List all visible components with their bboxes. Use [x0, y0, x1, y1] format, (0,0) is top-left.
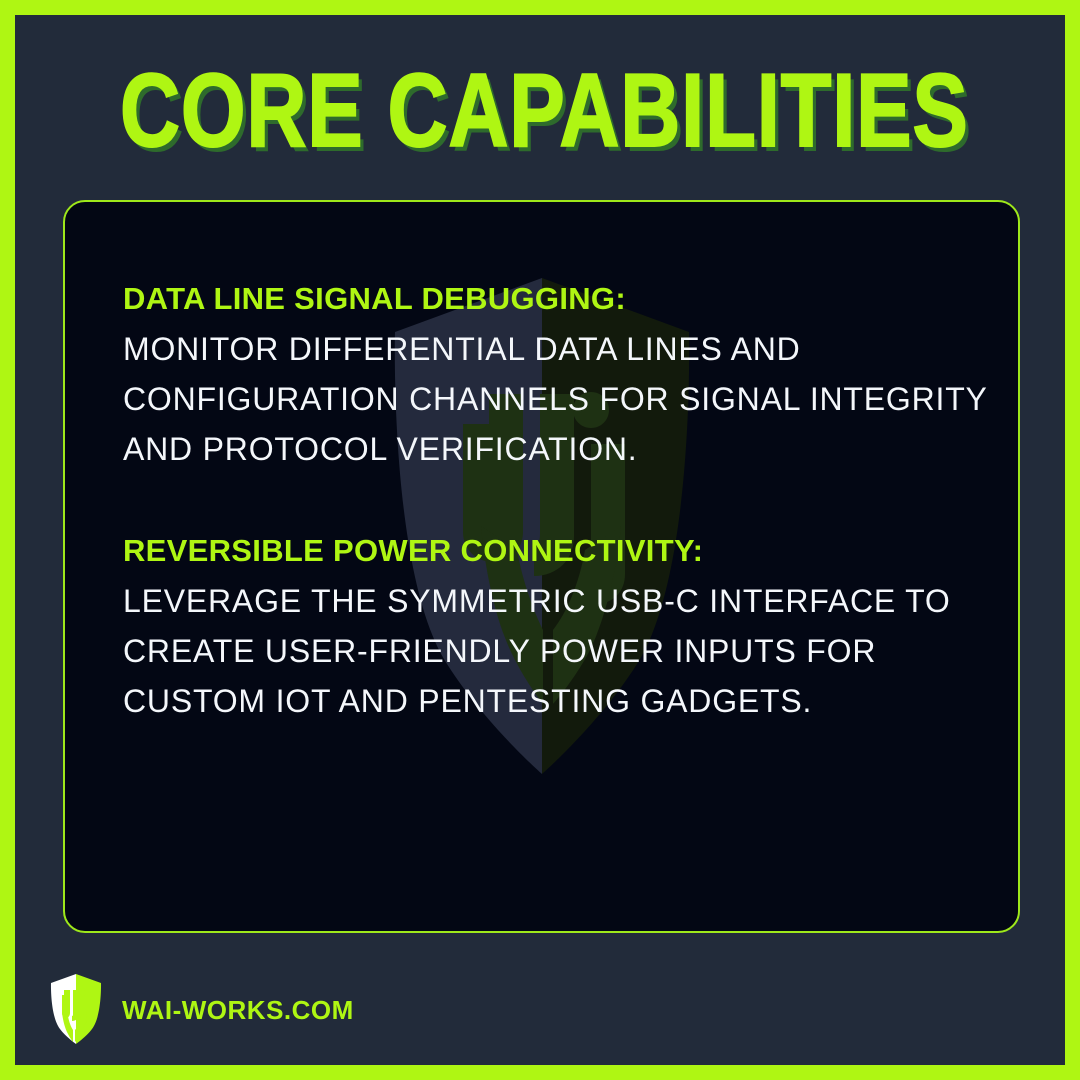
footer-site-url[interactable]: WAI-WORKS.COM — [122, 995, 354, 1026]
page-title: CORE CAPABILITIES — [120, 59, 960, 163]
capability-body: LEVERAGE THE SYMMETRIC USB-C INTERFACE T… — [123, 576, 978, 726]
capabilities-card: DATA LINE SIGNAL DEBUGGING: MONITOR DIFF… — [63, 200, 1020, 933]
capability-heading: REVERSIBLE POWER CONNECTIVITY: — [123, 532, 978, 570]
capability-body-line: MONITOR DIFFERENTIAL DATA LINES AND — [123, 324, 978, 374]
capability-body: MONITOR DIFFERENTIAL DATA LINES AND CONF… — [123, 324, 978, 474]
poster-root: CORE CAPABILITIES — [0, 0, 1080, 1080]
capability-body-line: CREATE USER-FRIENDLY POWER INPUTS FOR — [123, 626, 978, 676]
capability-body-line: LEVERAGE THE SYMMETRIC USB-C INTERFACE T… — [123, 576, 978, 626]
capability-list: DATA LINE SIGNAL DEBUGGING: MONITOR DIFF… — [123, 280, 978, 726]
capability-block: DATA LINE SIGNAL DEBUGGING: MONITOR DIFF… — [123, 280, 978, 474]
footer-brand: WAI-WORKS.COM — [48, 973, 354, 1047]
capability-body-line: CUSTOM IOT AND PENTESTING GADGETS. — [123, 676, 978, 726]
capability-block: REVERSIBLE POWER CONNECTIVITY: LEVERAGE … — [123, 532, 978, 726]
wai-works-shield-logo-icon — [48, 973, 104, 1047]
capability-body-line: CONFIGURATION CHANNELS FOR SIGNAL INTEGR… — [123, 374, 978, 424]
poster-canvas: CORE CAPABILITIES — [15, 15, 1065, 1065]
capability-heading: DATA LINE SIGNAL DEBUGGING: — [123, 280, 978, 318]
capability-body-line: AND PROTOCOL VERIFICATION. — [123, 424, 978, 474]
